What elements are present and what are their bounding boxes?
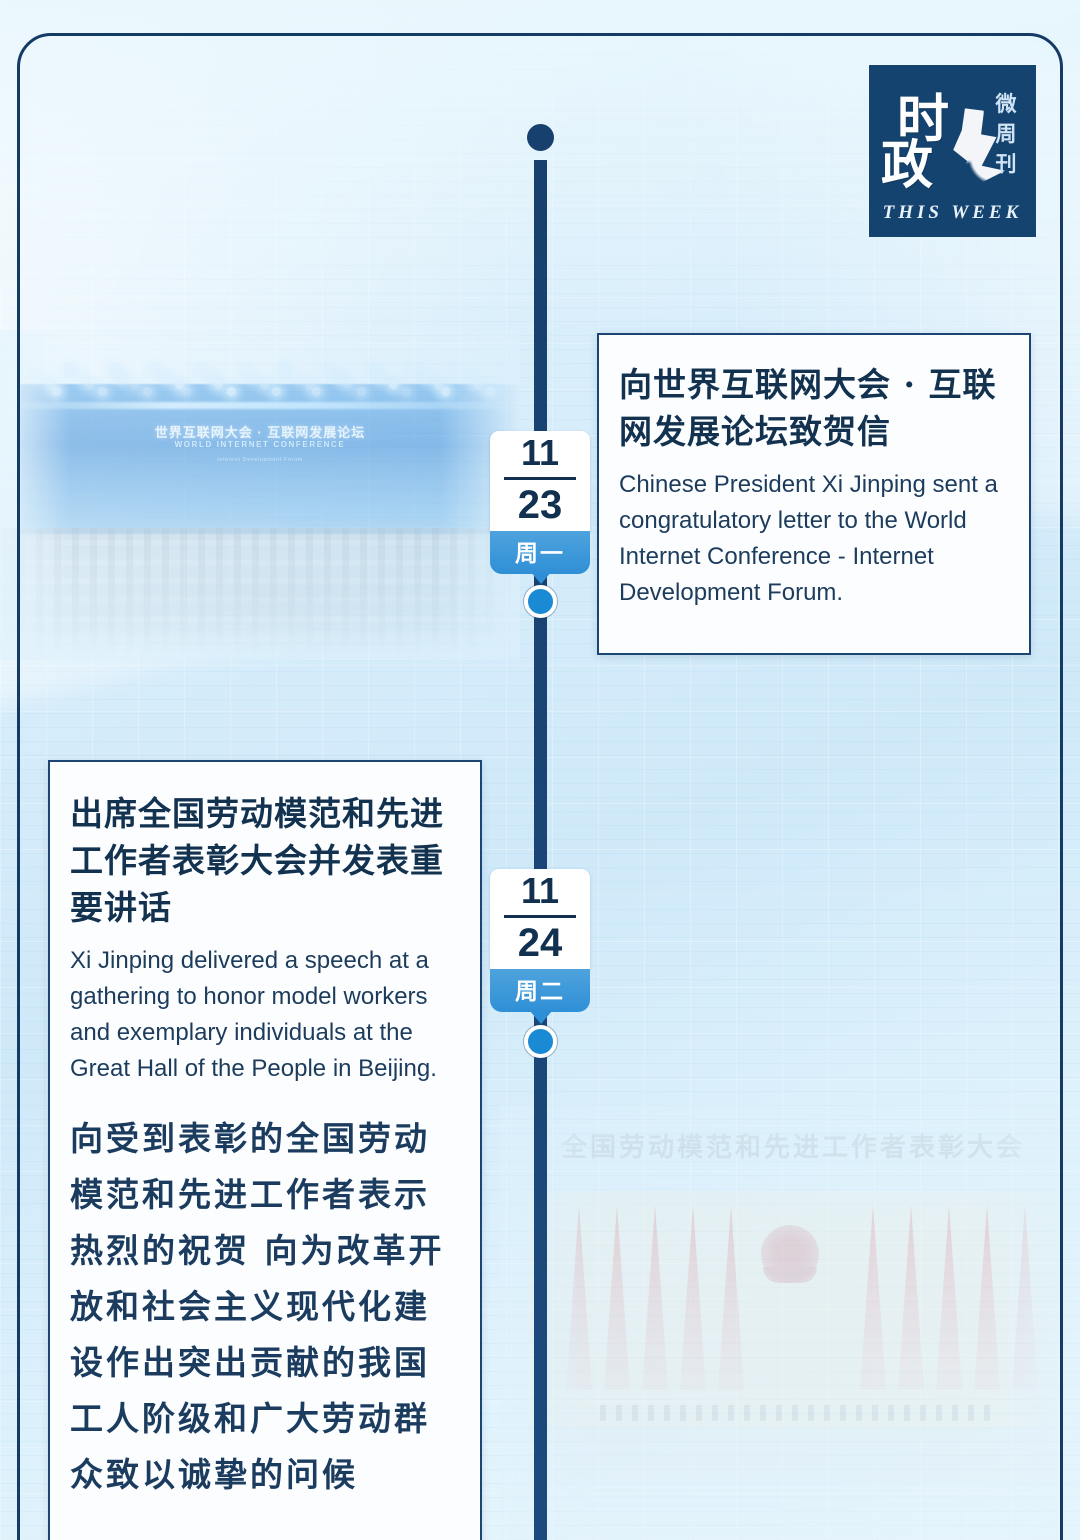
date-marker-2[interactable]: 11 24 周二 xyxy=(490,869,590,1012)
date-month: 11 xyxy=(498,435,582,474)
photo-fade-left xyxy=(0,330,70,660)
timeline-node-2[interactable] xyxy=(524,1025,557,1058)
date-month: 11 xyxy=(498,873,582,912)
background-photo-internet-conference: 世界互联网大会 · 互联网发展论坛 WORLD INTERNET CONFERE… xyxy=(0,330,520,660)
background-photo-great-hall: 全国劳动模范和先进工作者表彰大会 xyxy=(500,1105,1080,1540)
logo-tagline-en: THIS WEEK xyxy=(869,202,1036,224)
date-marker-1[interactable]: 11 23 周一 xyxy=(490,431,590,574)
timeline-start-dot xyxy=(527,124,554,151)
logo-artwork: 时 政 微周刊 xyxy=(869,73,1036,193)
event-body-en: Xi Jinping delivered a speech at a gathe… xyxy=(70,943,458,1087)
date-divider xyxy=(504,477,576,480)
poster-canvas: 世界互联网大会 · 互联网发展论坛 WORLD INTERNET CONFERE… xyxy=(0,0,1080,1540)
date-marker-1-top: 11 23 xyxy=(490,431,590,531)
event-body-en: Chinese President Xi Jinping sent a cong… xyxy=(619,467,1007,611)
event-card-1: 向世界互联网大会 · 互联网发展论坛致贺信 Chinese President … xyxy=(597,333,1031,655)
event-card-2: 出席全国劳动模范和先进工作者表彰大会并发表重要讲话 Xi Jinping del… xyxy=(48,760,482,1540)
date-day: 24 xyxy=(498,923,582,963)
timeline-node-1[interactable] xyxy=(524,585,557,618)
date-weekday: 周一 xyxy=(490,531,590,574)
brand-logo: 时 政 微周刊 THIS WEEK xyxy=(869,65,1036,237)
logo-char-zheng: 政 xyxy=(881,123,933,198)
timeline-line xyxy=(534,160,547,1540)
date-marker-2-top: 11 24 xyxy=(490,869,590,969)
event-title-cn: 向世界互联网大会 · 互联网发展论坛致贺信 xyxy=(619,361,1007,455)
logo-subtitle-cn: 微周刊 xyxy=(986,89,1026,179)
date-day: 23 xyxy=(498,485,582,525)
photo2-fade-overlay xyxy=(500,1105,1080,1540)
event-quote-cn: 向受到表彰的全国劳动模范和先进工作者表示热烈的祝贺 向为改革开放和社会主义现代化… xyxy=(70,1111,458,1503)
date-divider xyxy=(504,915,576,918)
event-title-cn: 出席全国劳动模范和先进工作者表彰大会并发表重要讲话 xyxy=(70,790,458,931)
date-weekday: 周二 xyxy=(490,969,590,1012)
